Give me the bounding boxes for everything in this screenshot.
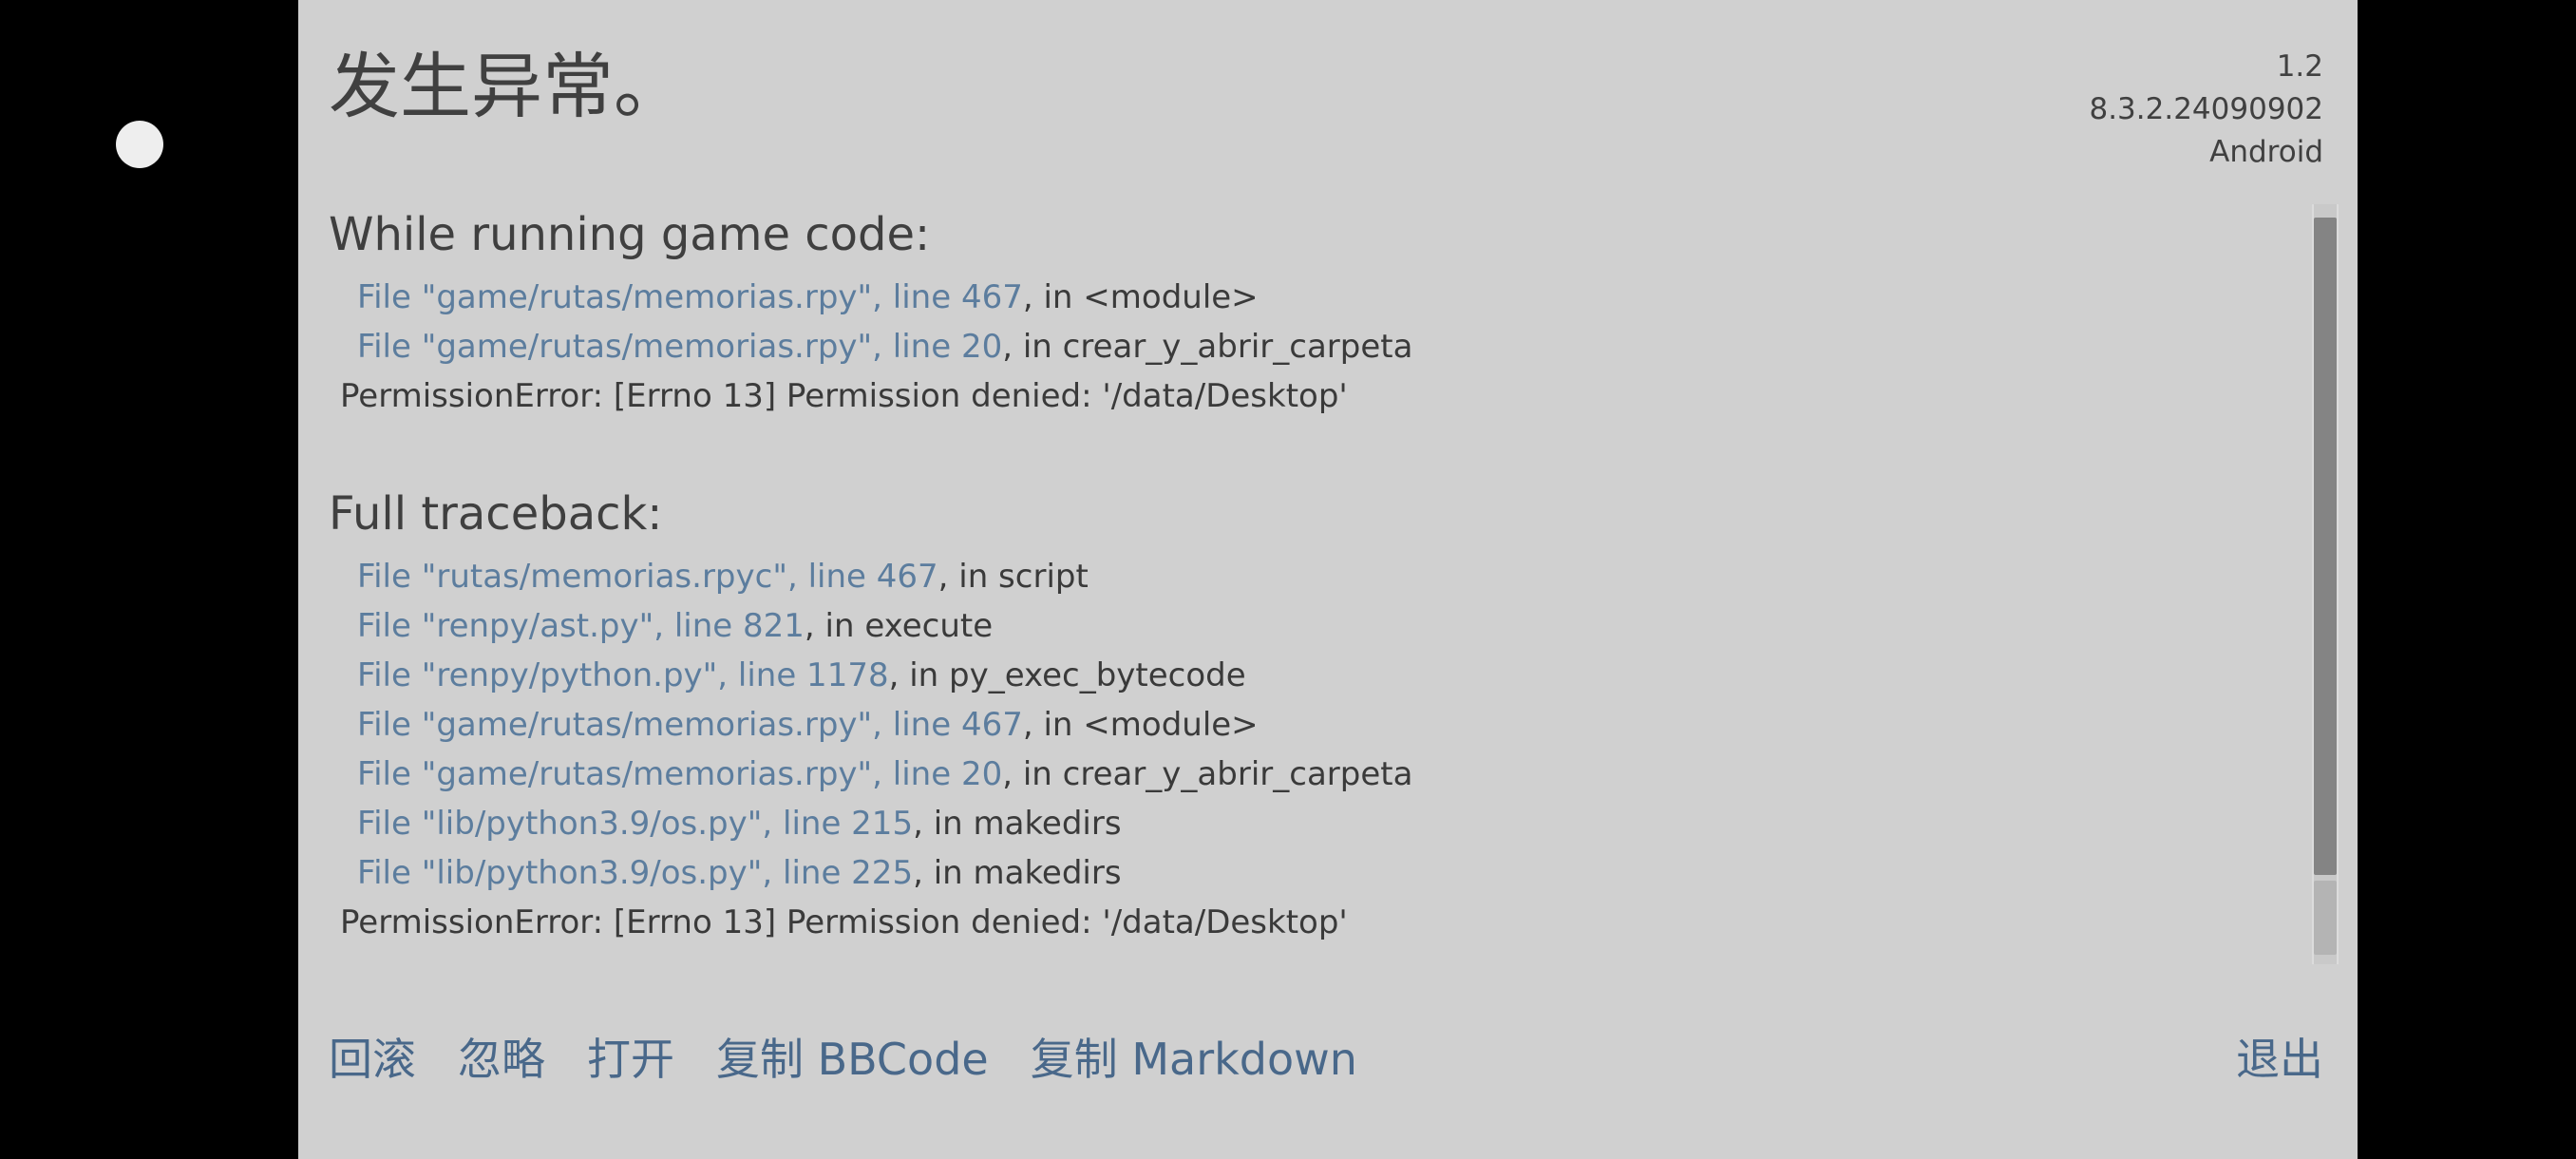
traceback-section: While running game code:File "game/rutas… xyxy=(329,204,2283,421)
panel-header: 发生异常。 1.2 8.3.2.24090902 Android xyxy=(298,0,2358,209)
traceback-line-context: , in script xyxy=(938,558,1089,596)
action-bar-left-group: 回滚忽略打开复制 BBCode复制 Markdown xyxy=(329,1031,1357,1088)
traceback-line-context: , in execute xyxy=(805,607,993,645)
traceback-line[interactable]: File "lib/python3.9/os.py", line 225, in… xyxy=(329,848,2283,898)
traceback-line[interactable]: File "game/rutas/memorias.rpy", line 467… xyxy=(329,273,2283,322)
page-title: 发生异常。 xyxy=(329,46,685,127)
traceback-line[interactable]: File "rutas/memorias.rpyc", line 467, in… xyxy=(329,552,2283,601)
traceback-line-context: , in makedirs xyxy=(913,805,1122,843)
traceback-line[interactable]: File "lib/python3.9/os.py", line 215, in… xyxy=(329,799,2283,848)
traceback-line-context: , in py_exec_bytecode xyxy=(889,656,1246,694)
traceback-section-gap xyxy=(329,442,2283,484)
traceback-section-heading: While running game code: xyxy=(329,204,2283,265)
traceback-scrollbar[interactable] xyxy=(2306,204,2344,964)
traceback-section-heading: Full traceback: xyxy=(329,484,2283,544)
traceback-file-link[interactable]: File "game/rutas/memorias.rpy", line 20 xyxy=(357,328,1002,366)
traceback-file-link[interactable]: File "game/rutas/memorias.rpy", line 467 xyxy=(357,706,1023,744)
traceback-line[interactable]: File "game/rutas/memorias.rpy", line 20,… xyxy=(329,750,2283,799)
version-line-2: 8.3.2.24090902 xyxy=(2089,88,2323,131)
traceback-file-link[interactable]: File "game/rutas/memorias.rpy", line 20 xyxy=(357,755,1002,793)
traceback-line[interactable]: File "game/rutas/memorias.rpy", line 20,… xyxy=(329,322,2283,371)
traceback-file-link[interactable]: File "lib/python3.9/os.py", line 215 xyxy=(357,805,913,843)
traceback-file-link[interactable]: File "lib/python3.9/os.py", line 225 xyxy=(357,854,913,892)
version-line-3: Android xyxy=(2089,131,2323,174)
copy-markdown-button[interactable]: 复制 Markdown xyxy=(1031,1031,1357,1088)
traceback-line-context: , in crear_y_abrir_carpeta xyxy=(1002,755,1412,793)
rollback-button[interactable]: 回滚 xyxy=(329,1031,416,1088)
action-bar-right-group: 退出 xyxy=(2236,1031,2323,1088)
traceback-section: Full traceback:File "rutas/memorias.rpyc… xyxy=(329,484,2283,947)
scrollbar-trough-lower[interactable] xyxy=(2314,881,2337,955)
traceback-content: While running game code:File "game/rutas… xyxy=(329,204,2283,964)
traceback-line[interactable]: File "renpy/python.py", line 1178, in py… xyxy=(329,651,2283,700)
traceback-line[interactable]: File "renpy/ast.py", line 821, in execut… xyxy=(329,601,2283,651)
traceback-file-link[interactable]: File "renpy/python.py", line 1178 xyxy=(357,656,889,694)
traceback-line-context: , in crear_y_abrir_carpeta xyxy=(1002,328,1412,366)
traceback-viewport[interactable]: While running game code:File "game/rutas… xyxy=(298,204,2283,964)
traceback-line: PermissionError: [Errno 13] Permission d… xyxy=(329,371,2283,421)
traceback-file-link[interactable]: File "game/rutas/memorias.rpy", line 467 xyxy=(357,278,1023,316)
action-bar: 回滚忽略打开复制 BBCode复制 Markdown 退出 xyxy=(298,993,2358,1159)
traceback-line-context: , in <module> xyxy=(1023,706,1259,744)
traceback-line: PermissionError: [Errno 13] Permission d… xyxy=(329,898,2283,947)
traceback-error-message: PermissionError: [Errno 13] Permission d… xyxy=(340,377,1348,415)
traceback-line-context: , in <module> xyxy=(1023,278,1259,316)
ignore-button[interactable]: 忽略 xyxy=(458,1031,545,1088)
camera-punch-hole-icon xyxy=(116,121,163,168)
traceback-file-link[interactable]: File "renpy/ast.py", line 821 xyxy=(357,607,805,645)
traceback-error-message: PermissionError: [Errno 13] Permission d… xyxy=(340,903,1348,941)
traceback-file-link[interactable]: File "rutas/memorias.rpyc", line 467 xyxy=(357,558,938,596)
scrollbar-thumb[interactable] xyxy=(2314,218,2337,875)
version-info: 1.2 8.3.2.24090902 Android xyxy=(2089,46,2323,174)
traceback-line[interactable]: File "game/rutas/memorias.rpy", line 467… xyxy=(329,700,2283,750)
copy-bbcode-button[interactable]: 复制 BBCode xyxy=(716,1031,989,1088)
version-line-1: 1.2 xyxy=(2089,46,2323,88)
traceback-line-context: , in makedirs xyxy=(913,854,1122,892)
quit-button[interactable]: 退出 xyxy=(2236,1031,2323,1088)
open-button[interactable]: 打开 xyxy=(587,1031,674,1088)
exception-panel: 发生异常。 1.2 8.3.2.24090902 Android While r… xyxy=(298,0,2358,1159)
device-screen: 发生异常。 1.2 8.3.2.24090902 Android While r… xyxy=(0,0,2576,1159)
